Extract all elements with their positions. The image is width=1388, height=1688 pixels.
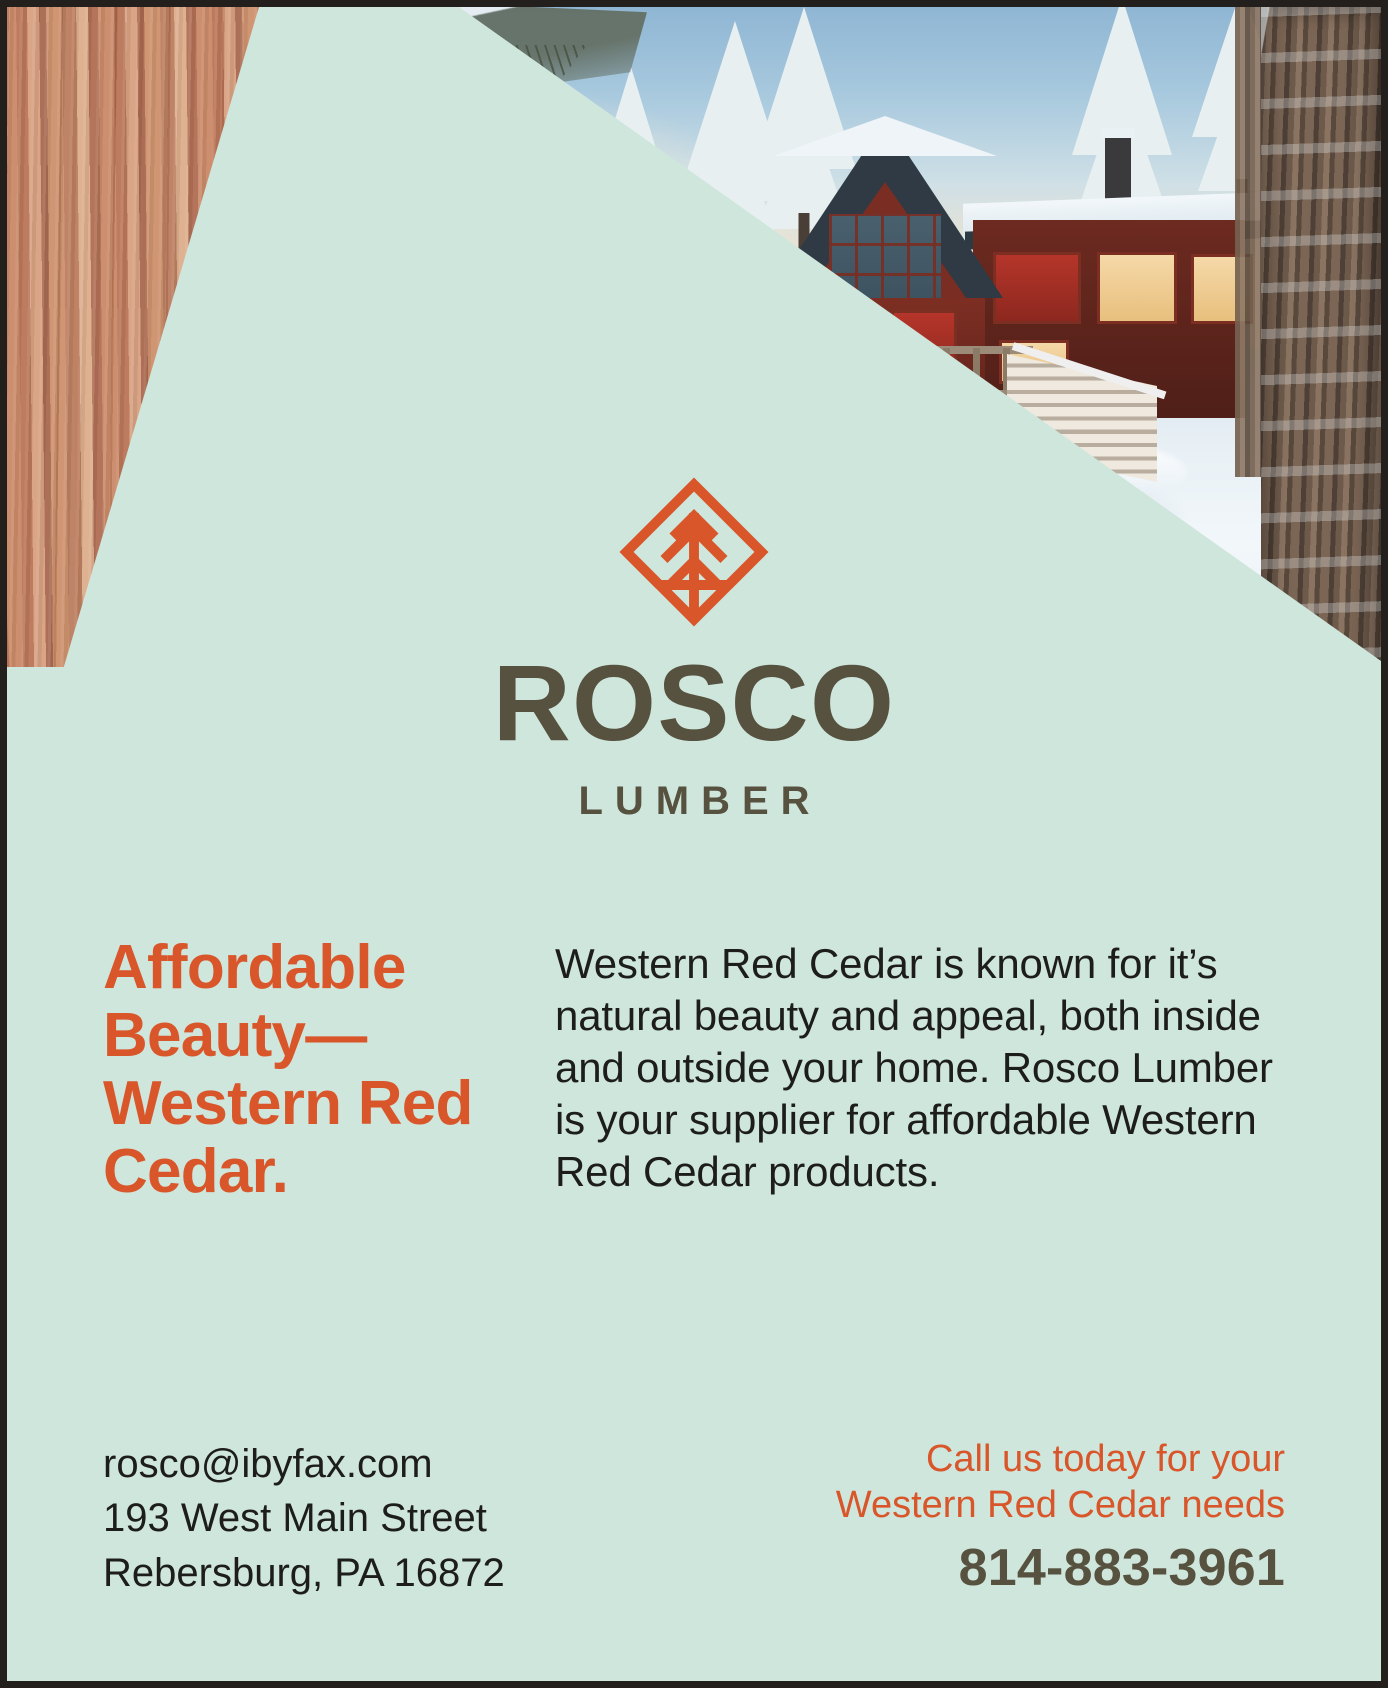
cta-line-2: Western Red Cedar needs xyxy=(836,1483,1285,1529)
call-to-action-block: Call us today for your Western Red Cedar… xyxy=(836,1437,1285,1598)
sub-wordmark: LUMBER xyxy=(578,779,821,824)
address-line-2: Rebersburg, PA 16872 xyxy=(103,1546,505,1600)
diamond-pine-tree-icon xyxy=(619,477,769,627)
cta-line-1: Call us today for your xyxy=(836,1437,1285,1483)
body-copy: Western Red Cedar is known for it’s natu… xyxy=(555,934,1285,1198)
footer: rosco@ibyfax.com 193 West Main Street Re… xyxy=(7,1437,1381,1600)
email-address[interactable]: rosco@ibyfax.com xyxy=(103,1437,505,1491)
phone-number[interactable]: 814-883-3961 xyxy=(836,1538,1285,1598)
wordmark: ROSCO xyxy=(493,649,896,757)
cta-text: Call us today for your Western Red Cedar… xyxy=(836,1437,1285,1528)
cabin-main-roof-snow xyxy=(773,116,997,156)
cabin-window xyxy=(993,252,1081,324)
main-content: Affordable Beauty—Western Red Cedar. Wes… xyxy=(7,892,1381,1248)
contact-block: rosco@ibyfax.com 193 West Main Street Re… xyxy=(103,1437,505,1600)
address-line-1: 193 West Main Street xyxy=(103,1491,505,1545)
brand-logo: ROSCO LUMBER xyxy=(7,477,1381,824)
advertisement-root: ROSCO LUMBER Affordable Beauty—Western R… xyxy=(0,0,1388,1688)
cabin-window xyxy=(1097,252,1177,324)
chimney-snow-cap xyxy=(1101,128,1135,138)
page-headline: Affordable Beauty—Western Red Cedar. xyxy=(103,934,503,1207)
